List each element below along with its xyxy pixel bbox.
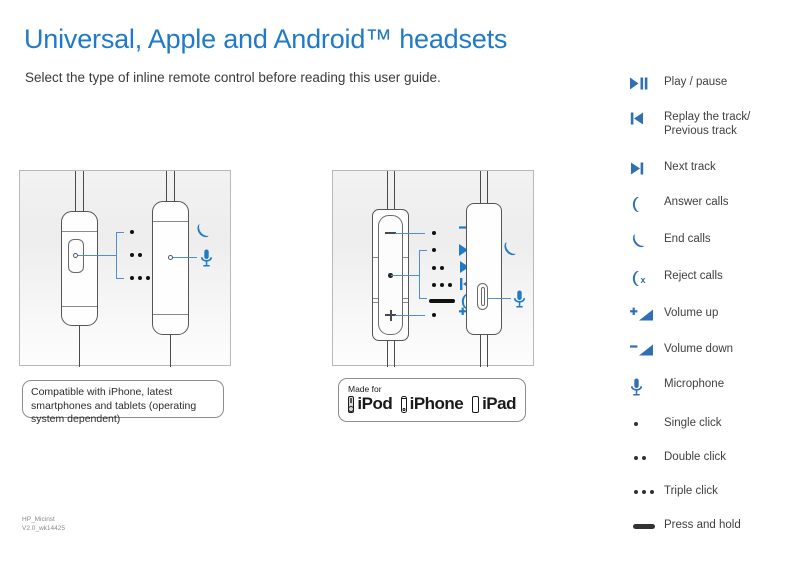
cable-segment	[394, 339, 395, 367]
legend-item-label: Answer calls	[664, 195, 729, 209]
legend-item-volume-up: Volume up	[630, 306, 718, 323]
double-click-icon	[630, 450, 664, 465]
cable-segment	[487, 171, 488, 204]
single-click-icon	[630, 416, 664, 431]
legend-item-next-track: Next track	[630, 160, 716, 175]
cable-segment	[394, 171, 395, 210]
legend-item-volume-down: Volume down	[630, 342, 733, 358]
legend-item-reject-calls: x Reject calls	[630, 269, 723, 287]
footer-line-1: HP_Micinst	[22, 516, 65, 525]
legend-item-label: Triple click	[664, 484, 718, 498]
remote-seam	[153, 221, 188, 222]
play-pause-icon	[630, 75, 664, 90]
page-title: Universal, Apple and Android™ headsets	[24, 24, 507, 55]
leader-line	[173, 257, 197, 258]
ipod-label: iPod	[357, 395, 392, 413]
end-call-icon	[195, 223, 211, 240]
microphone-icon	[513, 290, 526, 308]
leader-bracket	[419, 250, 420, 299]
leader-line	[487, 298, 511, 299]
reject-call-icon: x	[630, 269, 664, 287]
remote-seam	[62, 231, 97, 232]
apple-microphone-capsule[interactable]	[466, 203, 502, 335]
cable-segment	[387, 171, 388, 210]
legend-item-double-click: Double click	[630, 450, 726, 465]
svg-text:x: x	[641, 275, 646, 285]
legend-item-label: Volume down	[664, 342, 733, 356]
footer-line-2: V2.0_wk14425	[22, 525, 65, 534]
legend-item-label: Play / pause	[664, 75, 727, 89]
end-call-icon	[630, 232, 664, 250]
legend-item-end-calls: End calls	[630, 232, 711, 250]
universal-caption-text: Compatible with iPhone, latest smartphon…	[31, 386, 196, 425]
legend-item-triple-click: Triple click	[630, 484, 718, 499]
leader-line	[78, 255, 116, 256]
made-for-label: Made for	[348, 384, 516, 394]
legend-item-press-and-hold: Press and hold	[630, 518, 741, 533]
press-and-hold-icon	[630, 518, 664, 533]
footer: HP_Micinst V2.0_wk14425	[22, 516, 65, 533]
leader-line	[419, 250, 427, 251]
volume-up-icon	[630, 306, 664, 323]
leader-line	[391, 275, 419, 276]
cable-segment	[174, 171, 175, 205]
page-subtitle: Select the type of inline remote control…	[25, 70, 441, 85]
legend-item-play-pause: Play / pause	[630, 75, 727, 90]
legend-item-label: Press and hold	[664, 518, 741, 532]
volume-down-icon	[630, 342, 664, 358]
single-click-marker	[130, 230, 134, 234]
answer-call-icon	[630, 195, 664, 213]
legend-item-label: Next track	[664, 160, 716, 174]
legend-item-label: Replay the track/ Previous track	[664, 110, 750, 138]
single-click-marker	[432, 313, 436, 317]
legend-item-previous-track: Replay the track/ Previous track	[630, 110, 750, 138]
remote-seam	[62, 306, 97, 307]
leader-line	[116, 278, 124, 279]
triple-click-marker	[130, 276, 150, 280]
ipad-label: iPad	[482, 395, 516, 413]
cable-segment	[487, 334, 488, 367]
legend-item-answer-calls: Answer calls	[630, 195, 729, 213]
apple-made-for-badge: Made for iPod iPhone iPad	[338, 378, 526, 422]
leader-line	[395, 315, 425, 316]
cable-segment	[387, 339, 388, 367]
leader-line	[116, 232, 124, 233]
cable-segment	[170, 333, 171, 367]
next-track-icon	[630, 160, 664, 175]
cable-segment	[75, 171, 76, 215]
remote-seam	[153, 314, 188, 315]
volume-up-button-vertical	[390, 310, 392, 321]
iphone-icon	[401, 396, 407, 413]
end-call-icon	[502, 241, 518, 258]
microphone-button-inner	[481, 287, 485, 306]
universal-headset-diagram	[19, 170, 231, 366]
double-click-marker	[130, 253, 142, 257]
legend-item-label: Volume up	[664, 306, 718, 320]
ipad-icon	[472, 396, 479, 413]
cable-segment	[480, 334, 481, 367]
microphone-icon	[630, 377, 664, 396]
press-and-hold-marker	[429, 299, 455, 303]
legend-item-single-click: Single click	[630, 416, 722, 431]
legend-item-label: Single click	[664, 416, 722, 430]
legend-item-label: End calls	[664, 232, 711, 246]
universal-caption: Compatible with iPhone, latest smartphon…	[22, 380, 224, 418]
triple-click-icon	[630, 484, 664, 499]
apple-headset-diagram: x	[332, 170, 534, 366]
legend-item-label: Microphone	[664, 377, 724, 391]
previous-track-icon	[630, 110, 664, 125]
triple-click-marker	[432, 283, 452, 287]
legend-item-label: Reject calls	[664, 269, 723, 283]
cable-segment	[79, 323, 80, 367]
iphone-label: iPhone	[410, 395, 464, 413]
leader-bracket	[116, 232, 117, 279]
leader-line	[395, 233, 425, 234]
double-click-marker	[432, 266, 444, 270]
ipod-icon	[348, 396, 354, 413]
single-click-marker	[432, 231, 436, 235]
single-click-marker	[432, 248, 436, 252]
legend-item-label: Double click	[664, 450, 726, 464]
cable-segment	[83, 171, 84, 215]
microphone-icon	[200, 249, 213, 267]
cable-segment	[480, 171, 481, 204]
leader-line	[419, 298, 427, 299]
universal-microphone-capsule[interactable]	[152, 201, 189, 335]
cable-segment	[166, 171, 167, 205]
legend-item-microphone: Microphone	[630, 377, 724, 396]
